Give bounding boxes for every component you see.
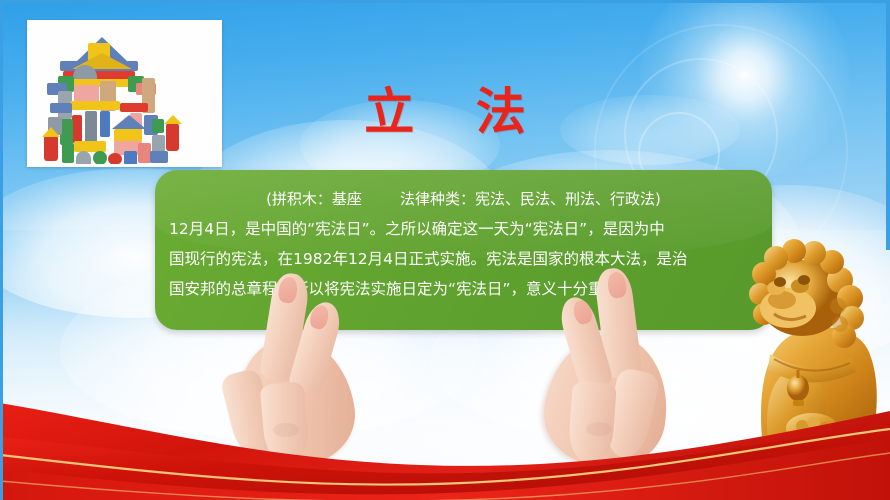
panel-text-block: (拼积木：基座 法律种类：宪法、民法、刑法、行政法) 12月4日，是中国的“宪法… <box>169 184 758 304</box>
panel-line-1: (拼积木：基座 法律种类：宪法、民法、刑法、行政法) <box>169 184 758 214</box>
slide-edge-left <box>0 0 3 500</box>
panel-line-2: 12月4日，是中国的“宪法日”。之所以确定这一天为“宪法日”，是因为中 <box>169 214 758 244</box>
slide-edge-right <box>886 0 890 250</box>
slide-edge-top <box>0 0 890 3</box>
ribbon-svg <box>0 385 890 500</box>
slide-canvas: 立 法 (拼积木：基座 法律种类：宪法、民法、刑法、行政法) 12月4日，是中国… <box>0 0 890 500</box>
red-wave-ribbon <box>0 385 890 500</box>
content-panel: (拼积木：基座 法律种类：宪法、民法、刑法、行政法) 12月4日，是中国的“宪法… <box>155 170 772 330</box>
panel-line-4: 国安邦的总章程，所以将宪法实施日定为“宪法日”，意义十分重大。 <box>169 274 758 304</box>
panel-line-3: 国现行的宪法，在1982年12月4日正式实施。宪法是国家的根本大法，是治 <box>169 244 758 274</box>
page-title: 立 法 <box>0 72 890 144</box>
